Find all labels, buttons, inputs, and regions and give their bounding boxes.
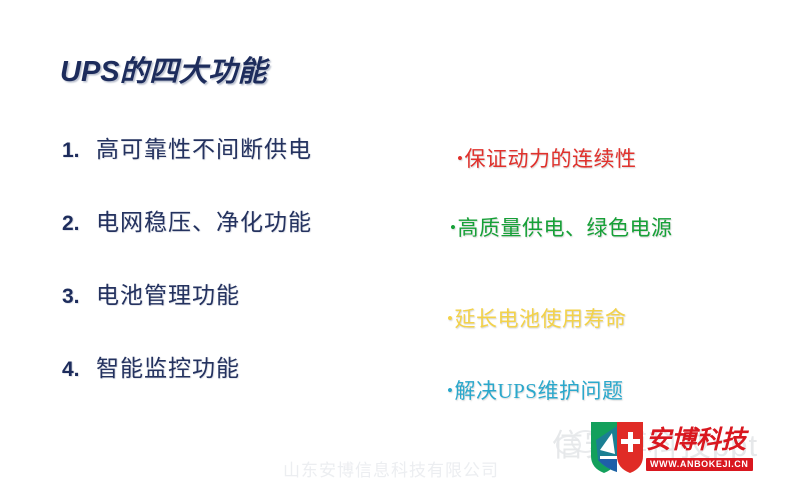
list-item: 1. 高可靠性不间断供电	[62, 130, 392, 203]
benefit-bullet-label: 解决UPS维护问题	[454, 379, 623, 403]
list-item-label: 电池管理功能	[96, 276, 240, 310]
list-item-marker: 4.	[62, 358, 96, 382]
bullet-dot-icon: •	[450, 218, 456, 237]
list-item-label: 智能监控功能	[96, 349, 240, 383]
list-item: 3. 电池管理功能	[62, 276, 392, 349]
list-item-marker: 3.	[62, 285, 96, 309]
logo-wordmark: 安博科技 WWW.ANBOKEJI.CN	[646, 428, 796, 472]
company-logo: 安博科技 WWW.ANBOKEJI.CN	[588, 418, 800, 478]
page-title: UPS的四大功能	[60, 48, 267, 90]
list-item-label: 电网稳压、净化功能	[96, 203, 312, 237]
bullet-dot-icon: •	[447, 309, 453, 328]
logo-company-name: 安博科技	[646, 428, 796, 454]
page-title-cjk: 的四大功能	[120, 56, 268, 88]
shield-emblem-icon	[588, 420, 646, 476]
bullet-dot-icon: •	[447, 381, 453, 400]
bullet-dot-icon: •	[457, 149, 463, 168]
slide-canvas: UPS的四大功能 1. 高可靠性不间断供电 2. 电网稳压、净化功能 3. 电池…	[0, 0, 800, 484]
list-item-marker: 2.	[62, 212, 96, 236]
list-item: 4. 智能监控功能	[62, 349, 392, 422]
logo-url-banner: WWW.ANBOKEJI.CN	[646, 458, 753, 471]
page-title-latin: UPS	[60, 56, 120, 88]
benefit-bullet-3: •延长电池使用寿命	[447, 303, 626, 333]
benefit-bullet-1: •保证动力的连续性	[457, 143, 636, 173]
benefit-bullet-label: 保证动力的连续性	[464, 147, 636, 171]
footer-watermark: 山东安博信息科技有限公司	[283, 456, 499, 481]
benefit-bullet-label: 高质量供电、绿色电源	[457, 216, 672, 240]
list-item: 2. 电网稳压、净化功能	[62, 203, 392, 276]
list-item-marker: 1.	[62, 139, 96, 163]
numbered-feature-list: 1. 高可靠性不间断供电 2. 电网稳压、净化功能 3. 电池管理功能 4. 智…	[62, 130, 392, 422]
benefit-bullet-label: 延长电池使用寿命	[454, 307, 626, 331]
list-item-label: 高可靠性不间断供电	[96, 130, 312, 164]
benefit-bullet-2: •高质量供电、绿色电源	[450, 212, 672, 242]
logo-website-url: WWW.ANBOKEJI.CN	[650, 459, 749, 470]
benefit-bullet-4: •解决UPS维护问题	[447, 375, 623, 405]
